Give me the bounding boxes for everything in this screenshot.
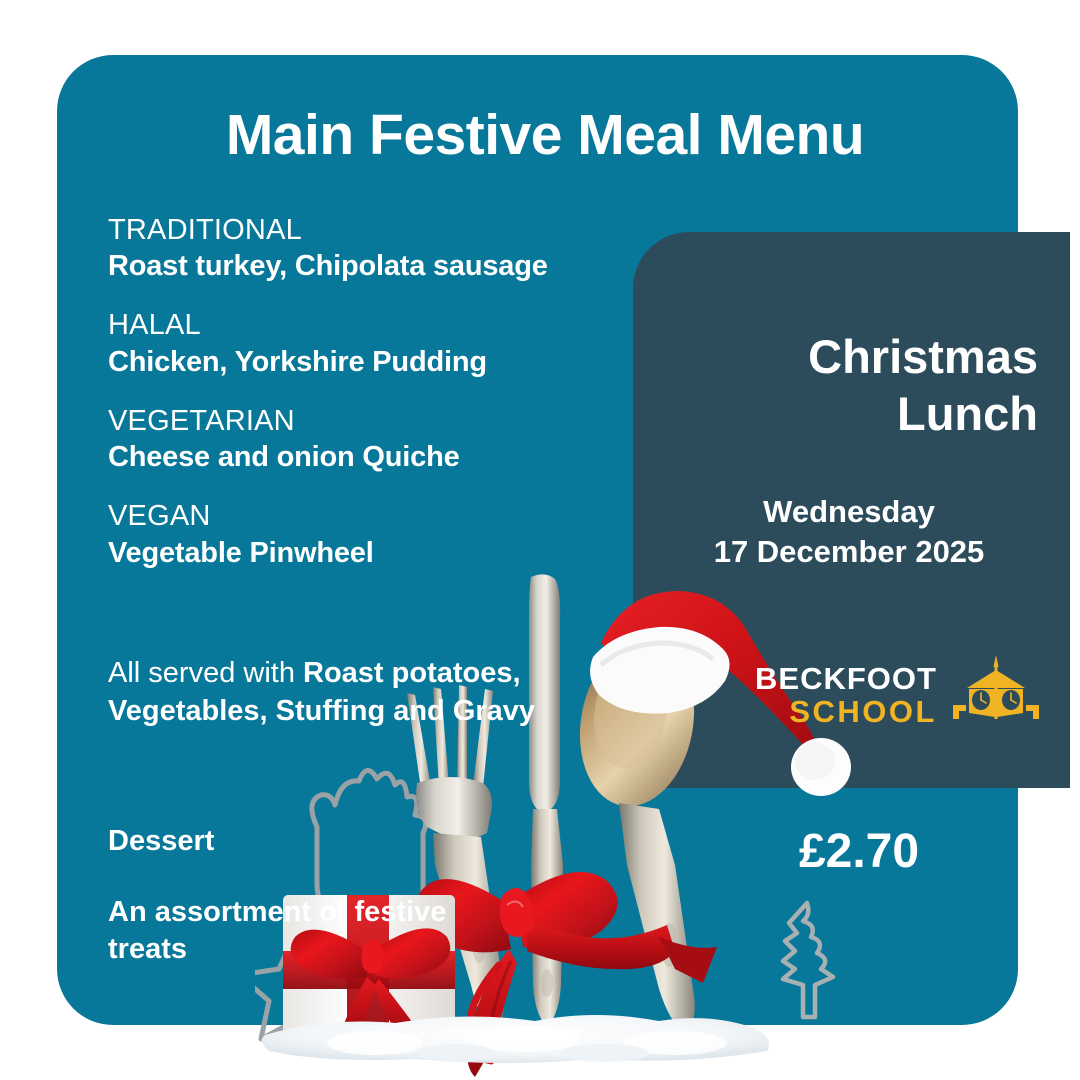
- menu-list: TRADITIONAL Roast turkey, Chipolata saus…: [108, 213, 668, 595]
- menu-dish-label: Chicken, Yorkshire Pudding: [108, 344, 668, 381]
- brand-name: BECKFOOT: [755, 663, 937, 694]
- served-with-prefix: All served with: [108, 657, 303, 689]
- menu-category-label: HALAL: [108, 308, 668, 343]
- event-date-full: 17 December 2025: [714, 534, 985, 569]
- dessert-section: Dessert An assortment of festive treats: [108, 825, 528, 968]
- menu-category-label: TRADITIONAL: [108, 213, 668, 248]
- menu-category-label: VEGETARIAN: [108, 404, 668, 439]
- event-title-line2: Lunch: [897, 387, 1038, 440]
- served-with-text: All served with Roast potatoes, Vegetabl…: [108, 655, 638, 730]
- menu-item-vegetarian: VEGETARIAN Cheese and onion Quiche: [108, 404, 668, 476]
- menu-dish-label: Vegetable Pinwheel: [108, 535, 668, 572]
- event-title: Christmas Lunch: [660, 328, 1038, 443]
- clock-tower-icon: [953, 655, 1039, 734]
- price-label: £2.70: [700, 824, 1018, 879]
- brand-wordmark: BECKFOOT SCHOOL: [755, 663, 937, 727]
- menu-item-vegan: VEGAN Vegetable Pinwheel: [108, 499, 668, 571]
- menu-dish-label: Roast turkey, Chipolata sausage: [108, 248, 668, 285]
- beckfoot-school-logo: BECKFOOT SCHOOL: [755, 655, 1039, 734]
- menu-category-label: VEGAN: [108, 499, 668, 534]
- event-date-day: Wednesday: [763, 494, 935, 529]
- brand-sub: SCHOOL: [755, 696, 937, 727]
- dessert-description: An assortment of festive treats: [108, 894, 528, 968]
- dessert-heading: Dessert: [108, 825, 528, 858]
- event-title-line1: Christmas: [808, 330, 1038, 383]
- menu-item-halal: HALAL Chicken, Yorkshire Pudding: [108, 308, 668, 380]
- page-title: Main Festive Meal Menu: [0, 102, 1080, 168]
- event-date: Wednesday 17 December 2025: [660, 492, 1038, 573]
- festive-menu-poster: Main Festive Meal Menu TRADITIONAL Roast…: [0, 0, 1080, 1080]
- menu-item-traditional: TRADITIONAL Roast turkey, Chipolata saus…: [108, 213, 668, 285]
- menu-dish-label: Cheese and onion Quiche: [108, 439, 668, 476]
